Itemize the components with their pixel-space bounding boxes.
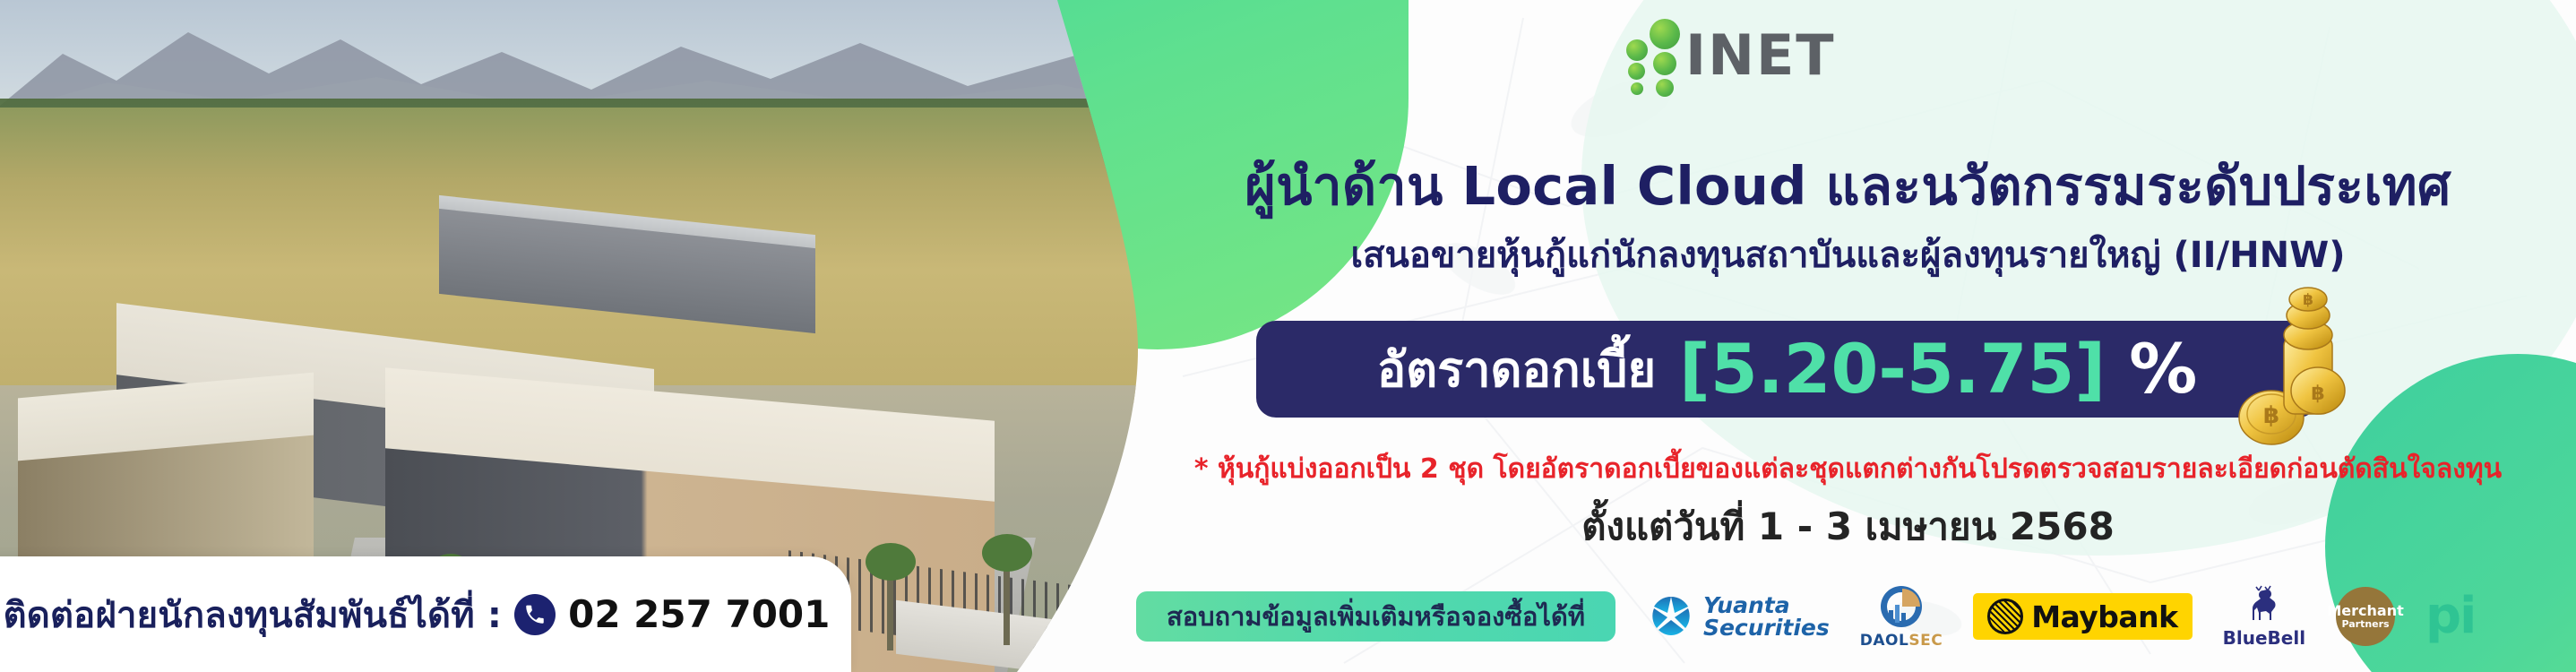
phone-icon — [514, 594, 556, 635]
broker-logo-bluebell[interactable]: BlueBell — [2223, 585, 2305, 649]
inet-logo-text: INET — [1685, 30, 1836, 82]
yuanta-line2: Securities — [1703, 616, 1830, 639]
page-title: ผู้นำด้าน Local Cloud และนวัตกรรมระดับปร… — [1120, 143, 2576, 228]
bluebell-deer-icon — [2246, 585, 2282, 626]
tree-trunk — [887, 573, 893, 650]
interest-rate-percent-sign: % — [2129, 335, 2197, 403]
daol-circle-icon — [1878, 583, 1925, 630]
broker-logo-pi[interactable]: pi — [2425, 597, 2475, 637]
maybank-tiger-icon — [1987, 599, 2023, 634]
broker-logo-yuanta[interactable]: Yuanta Securities — [1648, 593, 1830, 640]
tree-crown — [982, 534, 1032, 572]
cta-and-brokers-row: สอบถามข้อมูลเพิ่มเติมหรือจองซื้อได้ที่ — [1136, 581, 2570, 652]
daol-text-accent: SEC — [1908, 632, 1943, 650]
svg-text:฿: ฿ — [2311, 383, 2324, 405]
gold-coins-icon: ฿ ฿ ฿ — [2214, 283, 2348, 449]
inet-logo[interactable]: INET — [1617, 16, 1836, 82]
daol-text-main: DAOL — [1860, 632, 1909, 650]
svg-text:฿: ฿ — [2303, 291, 2313, 309]
merchant-line2: Partners — [2341, 619, 2389, 630]
investor-relations-contact-card[interactable]: ติดต่อฝ่ายนักลงทุนสัมพันธ์ได้ที่ : 02 25… — [0, 556, 851, 672]
broker-logo-daol-sec[interactable]: DAOLSEC — [1860, 583, 1943, 650]
inet-dots-icon — [1617, 16, 1680, 82]
offer-period-date: ตั้งแต่วันที่ 1 - 3 เมษายน 2568 — [1120, 497, 2576, 556]
page-subtitle: เสนอขายหุ้นกู้แก่นักลงทุนสถาบันและผู้ลงท… — [1120, 226, 2576, 283]
promotional-banner: ติดต่อฝ่ายนักลงทุนสัมพันธ์ได้ที่ : 02 25… — [0, 0, 2576, 672]
broker-logo-merchant-partners[interactable]: Merchant Partners — [2336, 587, 2395, 646]
tree-crown — [866, 543, 916, 581]
yuanta-star-icon — [1648, 593, 1694, 640]
pi-wordmark-icon: pi — [2425, 597, 2475, 637]
interest-rate-value: [5.20-5.75] — [1679, 335, 2106, 403]
merchant-circle-icon: Merchant Partners — [2336, 587, 2395, 646]
maybank-text: Maybank — [2031, 599, 2177, 634]
interest-rate-box: อัตราดอกเบี้ย [5.20-5.75] % ฿ — [1256, 321, 2318, 418]
banner-content: INET ผู้นำด้าน Local Cloud และนวัตกรรมระ… — [1120, 0, 2576, 672]
svg-text:฿: ฿ — [2263, 402, 2279, 429]
broker-logo-maybank[interactable]: Maybank — [1973, 593, 2192, 640]
tree-trunk — [1004, 564, 1010, 645]
yuanta-line1: Yuanta — [1703, 594, 1830, 616]
broker-logos: Yuanta Securities DAOLSEC — [1648, 583, 2475, 650]
contact-phone-number: 02 257 7001 — [568, 592, 830, 636]
contact-label: ติดต่อฝ่ายนักลงทุนสัมพันธ์ได้ที่ : — [4, 586, 503, 643]
inquiry-cta-button[interactable]: สอบถามข้อมูลเพิ่มเติมหรือจองซื้อได้ที่ — [1136, 591, 1615, 642]
disclaimer-note: * หุ้นกู้แบ่งออกเป็น 2 ชุด โดยอัตราดอกเบ… — [1120, 448, 2576, 490]
merchant-line1: Merchant — [2327, 604, 2403, 619]
bluebell-text: BlueBell — [2223, 627, 2305, 649]
interest-rate-label: อัตราดอกเบี้ย — [1377, 331, 1656, 408]
